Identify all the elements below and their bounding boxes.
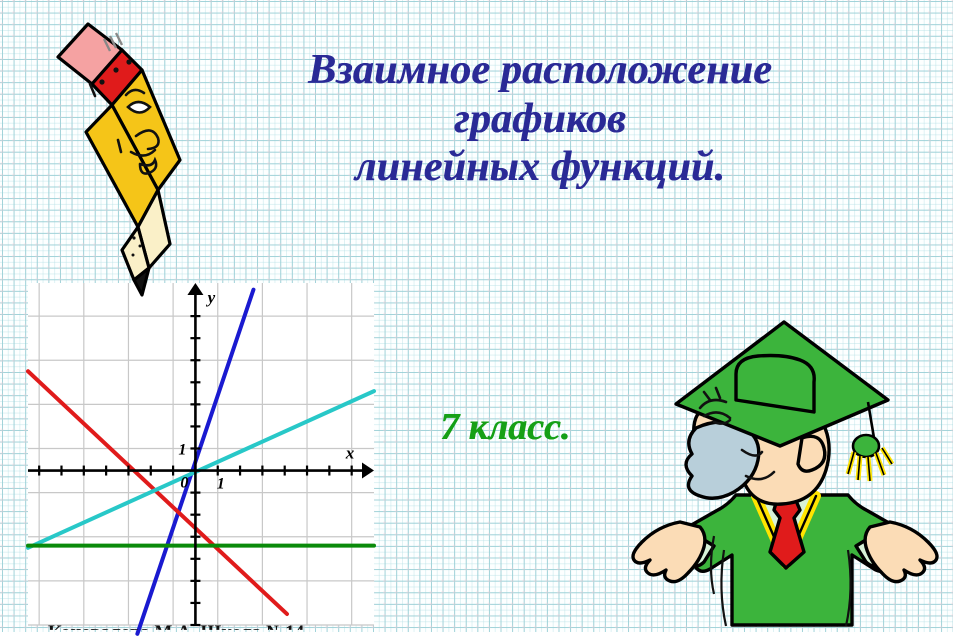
y-axis-label: y xyxy=(206,288,216,307)
page-title: Взаимное расположение графиков линейных … xyxy=(190,46,890,192)
coordinate-plane-svg: 011xy xyxy=(28,283,374,625)
x-unit-label: 1 xyxy=(217,476,225,493)
y-unit-label: 1 xyxy=(178,441,186,458)
origin-label: 0 xyxy=(180,475,188,492)
professor-ear xyxy=(798,436,825,471)
title-line-1: Взаимное расположение xyxy=(190,46,890,95)
title-line-3: линейных функций. xyxy=(190,143,890,192)
chart-background xyxy=(28,283,374,625)
pencil-eye xyxy=(128,102,150,113)
x-axis-label: x xyxy=(345,444,355,463)
pencil-character-illustration xyxy=(30,12,190,297)
professor-hand-right xyxy=(865,522,937,582)
professor-character-illustration xyxy=(618,300,953,632)
professor-hand-left xyxy=(633,522,705,582)
professor-tie xyxy=(770,496,804,568)
professor-cap-crown xyxy=(736,356,814,413)
linear-functions-graph: 011xy xyxy=(28,283,374,625)
grade-label: 7 класс. xyxy=(440,405,570,449)
title-line-2: графиков xyxy=(190,95,890,144)
footer-credit: Коновалова М.А. Школа №14 xyxy=(48,622,304,644)
